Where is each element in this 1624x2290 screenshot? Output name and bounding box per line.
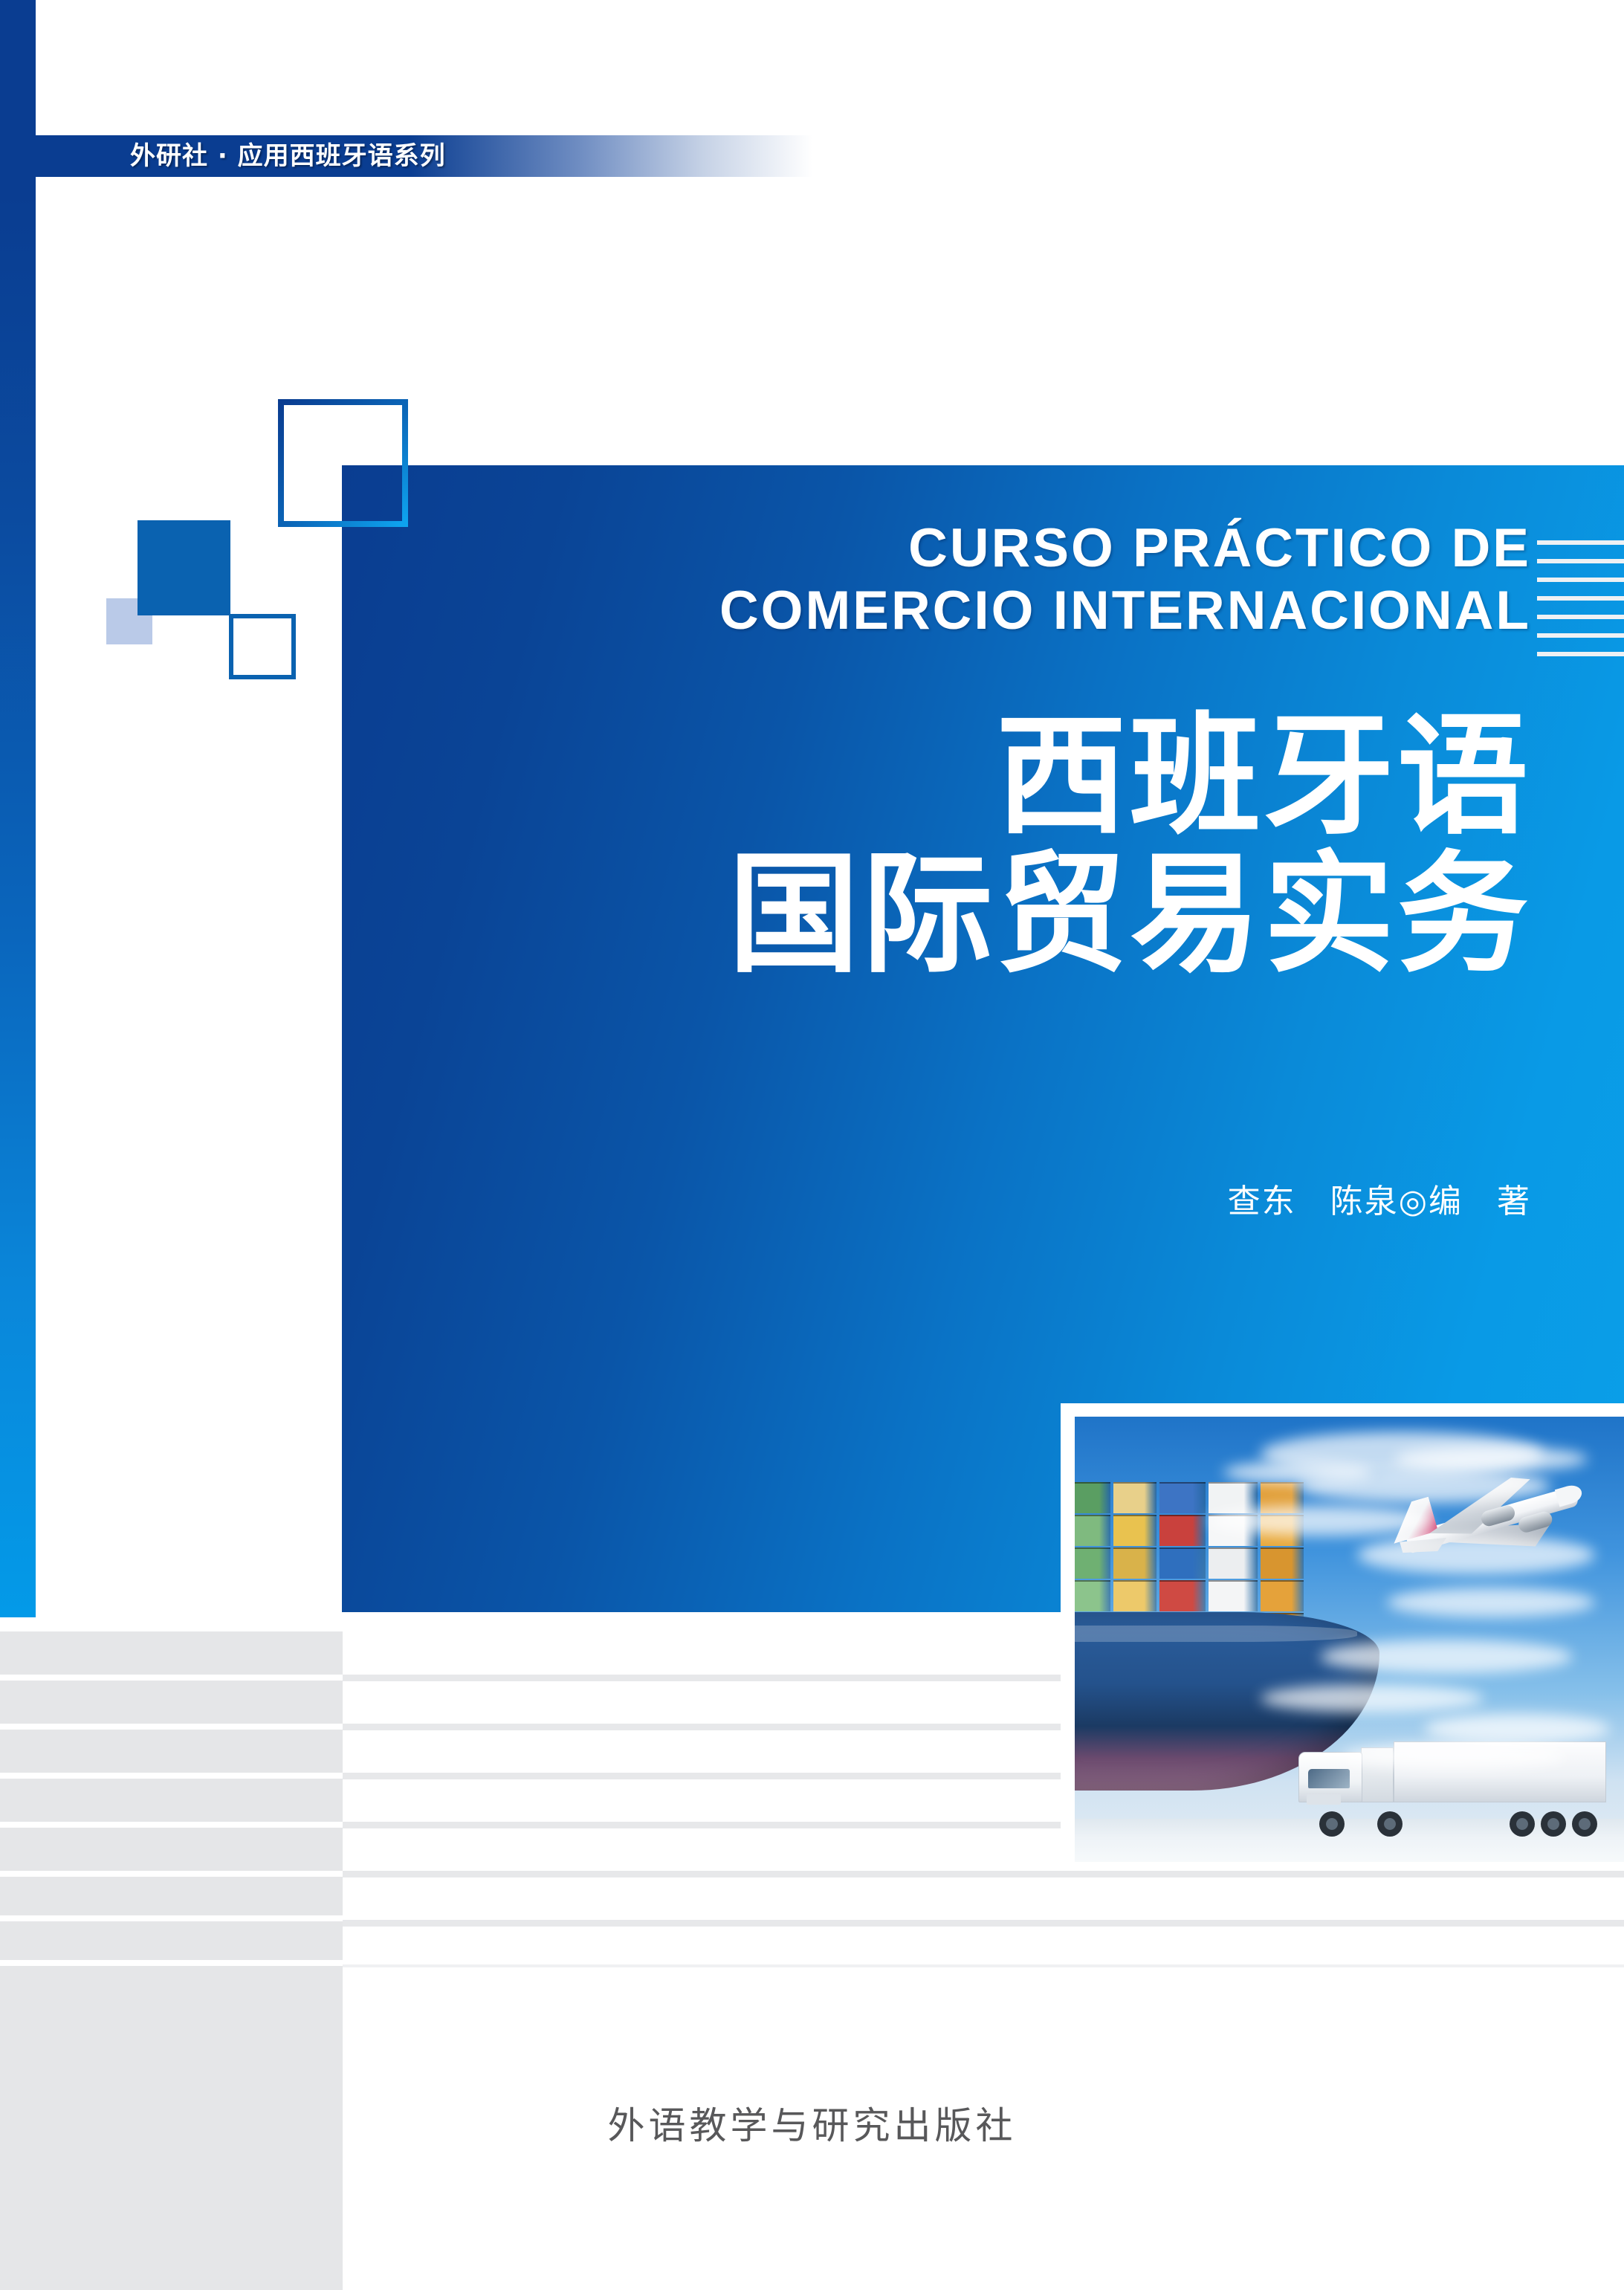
decorative-rule bbox=[1537, 633, 1624, 638]
series-banner-label: 外研社 · 应用西班牙语系列 bbox=[130, 139, 446, 173]
shipping-container bbox=[1113, 1580, 1156, 1611]
truck-wheel-rear-3 bbox=[1572, 1811, 1597, 1837]
chinese-title-line-2: 国际贸易实务 bbox=[401, 846, 1531, 984]
decorative-rule bbox=[1537, 596, 1624, 601]
stripe-band bbox=[0, 1877, 343, 1915]
cloud-shape bbox=[1424, 1714, 1610, 1744]
spanish-title-line-2: COMERCIO INTERNACIONAL bbox=[416, 580, 1531, 642]
stripe-band bbox=[0, 1828, 343, 1871]
truck-wheel-rear-1 bbox=[1510, 1811, 1535, 1837]
truck-wheel-rear-2 bbox=[1541, 1811, 1566, 1837]
ship-hull-highlight bbox=[1075, 1626, 1357, 1642]
shipping-container bbox=[1159, 1482, 1206, 1513]
truck-wheel-mid bbox=[1377, 1811, 1403, 1837]
left-spine-bar bbox=[0, 0, 36, 1617]
shipping-container bbox=[1113, 1515, 1156, 1546]
solid-square-icon bbox=[138, 520, 230, 615]
chinese-title-line-1: 西班牙语 bbox=[401, 708, 1531, 846]
outlined-square-small-icon bbox=[229, 614, 296, 679]
shipping-container bbox=[1075, 1580, 1110, 1611]
truck-grille bbox=[1307, 1794, 1341, 1805]
stripe-rule bbox=[343, 1871, 1624, 1877]
cloud-shape bbox=[1387, 1588, 1595, 1617]
publisher-name: 外语教学与研究出版社 bbox=[0, 2096, 1624, 2150]
decorative-rule bbox=[1537, 652, 1624, 656]
shipping-container bbox=[1159, 1547, 1206, 1579]
cloud-shape bbox=[1223, 1461, 1372, 1484]
shipping-container bbox=[1113, 1547, 1156, 1579]
decorative-rule bbox=[1537, 615, 1624, 619]
decorative-rule bbox=[1537, 578, 1624, 582]
spanish-title-line-1: CURSO PRÁCTICO DE bbox=[416, 517, 1531, 580]
plane-nose bbox=[1555, 1483, 1584, 1507]
shipping-container bbox=[1159, 1515, 1206, 1546]
stripe-band bbox=[0, 1681, 343, 1724]
stripe-band bbox=[0, 1730, 343, 1773]
stripe-rule bbox=[343, 1920, 1624, 1927]
spanish-title: CURSO PRÁCTICO DE COMERCIO INTERNACIONAL bbox=[416, 517, 1531, 642]
chinese-title: 西班牙语 国际贸易实务 bbox=[401, 708, 1531, 984]
cloud-shape bbox=[1261, 1684, 1484, 1712]
cloud-shape bbox=[1209, 1506, 1431, 1536]
cover-photo-frame bbox=[1061, 1403, 1624, 1862]
outlined-square-large-icon bbox=[278, 399, 408, 527]
truck-windshield bbox=[1308, 1769, 1350, 1788]
shipping-container bbox=[1075, 1515, 1110, 1546]
stripe-rule bbox=[343, 1964, 1624, 1967]
truck-wheel-front bbox=[1319, 1811, 1345, 1837]
decorative-rule bbox=[1537, 540, 1624, 545]
shipping-container bbox=[1075, 1482, 1110, 1513]
book-cover: 外研社 · 应用西班牙语系列 CURSO PRÁCTICO DE COMERCI… bbox=[0, 0, 1624, 2290]
stripe-band bbox=[0, 1631, 343, 1675]
shipping-container bbox=[1261, 1547, 1304, 1579]
decorative-rule bbox=[1537, 559, 1624, 563]
shipping-container bbox=[1209, 1580, 1258, 1611]
cloud-shape bbox=[1342, 1744, 1565, 1769]
shipping-container bbox=[1113, 1482, 1156, 1513]
shipping-container bbox=[1159, 1580, 1206, 1611]
cloud-shape bbox=[1394, 1446, 1588, 1472]
shipping-container bbox=[1261, 1580, 1304, 1611]
stripe-band bbox=[0, 1779, 343, 1822]
cloud-shape bbox=[1357, 1536, 1595, 1574]
logistics-photo bbox=[1075, 1417, 1624, 1862]
shipping-container bbox=[1075, 1547, 1110, 1579]
stripe-band bbox=[0, 1921, 343, 1960]
cloud-shape bbox=[1320, 1640, 1573, 1674]
author-byline: 查东 陈泉◎编 著 bbox=[818, 1174, 1531, 1222]
shipping-container bbox=[1209, 1547, 1258, 1579]
stripe-left-column bbox=[0, 1617, 343, 2290]
decorative-rules bbox=[1537, 540, 1624, 659]
